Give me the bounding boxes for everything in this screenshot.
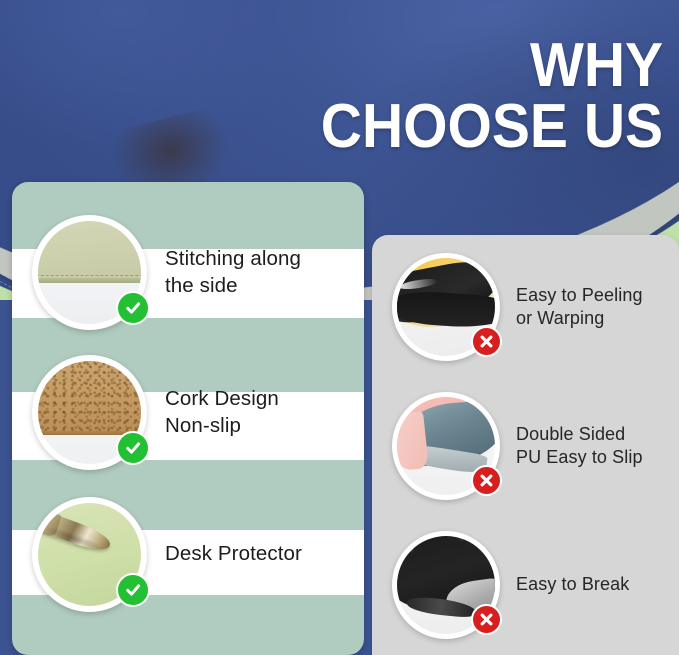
- cons-row: Easy to Break: [392, 531, 629, 639]
- page-title: WHY CHOOSE US: [321, 36, 663, 158]
- pros-thumb: [32, 497, 147, 612]
- pros-label: Desk Protector: [165, 541, 302, 568]
- cork-texture: [38, 361, 141, 433]
- cross-icon: [471, 604, 502, 635]
- pros-row: Cork Design Non-slip: [32, 355, 279, 470]
- cross-icon: [471, 326, 502, 357]
- headline-line-2: CHOOSE US: [321, 97, 663, 158]
- mat-edge-band: [38, 278, 141, 283]
- cons-label: Easy to Peeling or Warping: [516, 284, 643, 331]
- competitor-cons-panel: Easy to Peeling or Warping Double Sided …: [372, 235, 679, 655]
- cons-label: Easy to Break: [516, 573, 629, 596]
- check-icon: [116, 291, 150, 325]
- cons-thumb: [392, 531, 500, 639]
- headline-line-1: WHY: [321, 36, 663, 97]
- cons-thumb: [392, 253, 500, 361]
- cons-row: Easy to Peeling or Warping: [392, 253, 643, 361]
- cons-thumb: [392, 392, 500, 500]
- infographic-canvas: WHY CHOOSE US Easy to Peeling or Warping: [0, 0, 679, 655]
- mat-corner-surface: [38, 221, 141, 283]
- cons-label: Double Sided PU Easy to Slip: [516, 423, 643, 470]
- pros-thumb: [32, 355, 147, 470]
- pros-thumb: [32, 215, 147, 330]
- pros-row: Stitching along the side: [32, 215, 301, 330]
- cons-row: Double Sided PU Easy to Slip: [392, 392, 643, 500]
- check-icon: [116, 431, 150, 465]
- pros-row: Desk Protector: [32, 497, 302, 612]
- check-icon: [116, 573, 150, 607]
- pros-label: Cork Design Non-slip: [165, 386, 279, 439]
- pros-label: Stitching along the side: [165, 246, 301, 299]
- stitch-line: [38, 275, 141, 276]
- cross-icon: [471, 465, 502, 496]
